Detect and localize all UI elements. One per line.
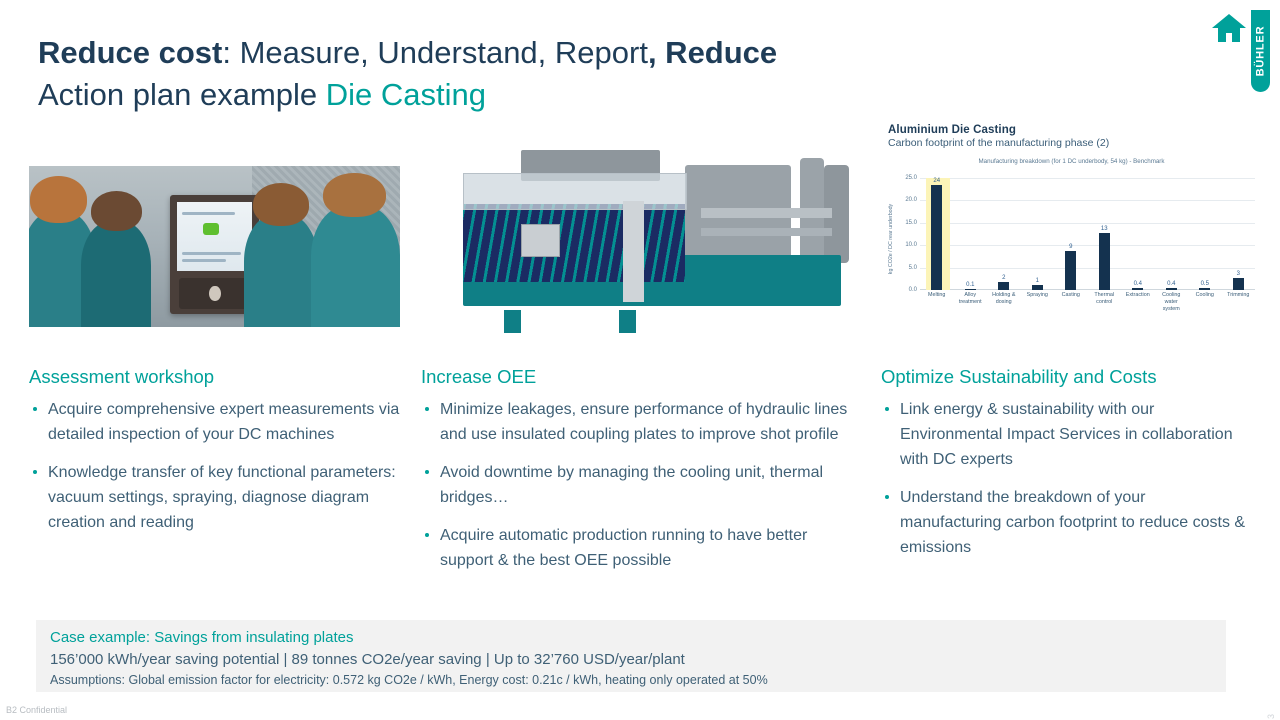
buhler-wordmark-text: BÜHLER bbox=[1254, 26, 1266, 77]
list-item: Minimize leakages, ensure performance of… bbox=[421, 397, 861, 447]
confidentiality-label: B2 Confidential bbox=[6, 705, 67, 715]
chart-x-tick: Alloy treatment bbox=[954, 292, 988, 313]
chart-data-label: 3 bbox=[1237, 271, 1240, 277]
column-bullets: Link energy & sustainability with our En… bbox=[881, 397, 1251, 560]
chart-y-tick: 10.0 bbox=[905, 242, 917, 248]
list-item: Knowledge transfer of key functional par… bbox=[29, 460, 414, 535]
column-bullets: Acquire comprehensive expert measurement… bbox=[29, 397, 414, 535]
chart-bar-group: 24 bbox=[920, 178, 954, 290]
chart-bar bbox=[1166, 288, 1177, 290]
list-item: Understand the breakdown of your manufac… bbox=[881, 485, 1251, 560]
machine-pillar bbox=[623, 201, 644, 302]
chart-y-tick: 25.0 bbox=[905, 175, 917, 181]
chart-bar bbox=[965, 289, 976, 291]
buhler-wordmark: BÜHLER bbox=[1250, 10, 1270, 92]
chart-bar-group: 0.4 bbox=[1155, 178, 1189, 290]
machine-panel bbox=[463, 204, 684, 282]
title-line-2: Action plan example Die Casting bbox=[38, 76, 918, 114]
column-bullets: Minimize leakages, ensure performance of… bbox=[421, 397, 861, 573]
title-bold-reduce-cost: Reduce cost bbox=[38, 35, 222, 70]
column-assessment-workshop: Assessment workshop Acquire comprehensiv… bbox=[29, 366, 414, 548]
chart-bar-group: 2 bbox=[987, 178, 1021, 290]
chart-x-tick: Cooling water system bbox=[1155, 292, 1189, 313]
chart-data-label: 0.5 bbox=[1201, 281, 1209, 287]
chart-bar-group: 13 bbox=[1088, 178, 1122, 290]
chart-bar bbox=[1032, 285, 1043, 290]
machine-safety-glass bbox=[463, 173, 686, 210]
chart-bar-group: 3 bbox=[1222, 178, 1256, 290]
column-heading: Increase OEE bbox=[421, 366, 861, 388]
case-example-box: Case example: Savings from insulating pl… bbox=[36, 620, 1226, 692]
chart-y-tick-labels: 0.05.010.015.020.025.0 bbox=[895, 178, 917, 290]
list-item: Link energy & sustainability with our En… bbox=[881, 397, 1251, 472]
list-item: Acquire comprehensive expert measurement… bbox=[29, 397, 414, 447]
chart-bars: 240.1219130.40.40.53 bbox=[920, 178, 1255, 290]
chart-panel-subheading: Carbon footprint of the manufacturing ph… bbox=[888, 137, 1259, 149]
machine-hmi-panel bbox=[521, 224, 560, 257]
title-subtitle-accent: Die Casting bbox=[326, 77, 486, 112]
chart-data-label: 0.4 bbox=[1134, 281, 1142, 287]
hmi-green-block bbox=[203, 223, 219, 235]
chart-x-tick: Melting bbox=[920, 292, 954, 313]
person-4 bbox=[311, 205, 400, 327]
chart-bar-group: 1 bbox=[1021, 178, 1055, 290]
slide-number: 3 bbox=[1266, 714, 1276, 719]
chart-data-label: 2 bbox=[1002, 275, 1005, 281]
person-2 bbox=[81, 221, 151, 327]
machine-tie-bar-2 bbox=[701, 228, 832, 236]
chart-bar bbox=[1065, 251, 1076, 290]
column-optimize-sustainability: Optimize Sustainability and Costs Link e… bbox=[881, 366, 1251, 573]
list-item: Avoid downtime by managing the cooling u… bbox=[421, 460, 861, 510]
case-example-heading: Case example: Savings from insulating pl… bbox=[50, 628, 1226, 648]
chart-bar bbox=[1233, 278, 1244, 290]
slide: BÜHLER Reduce cost: Measure, Understand,… bbox=[0, 0, 1280, 720]
page-title: Reduce cost: Measure, Understand, Report… bbox=[38, 34, 918, 114]
hmi-screen bbox=[177, 202, 252, 271]
title-subtitle-plain: Action plan example bbox=[38, 77, 326, 112]
chart-data-label: 24 bbox=[933, 178, 940, 184]
buhler-logo: BÜHLER bbox=[1206, 8, 1272, 94]
photo-die-casting-machine bbox=[447, 142, 857, 337]
chart-data-label: 1 bbox=[1036, 278, 1039, 284]
list-item: Acquire automatic production running to … bbox=[421, 523, 861, 573]
chart-bar-group: 9 bbox=[1054, 178, 1088, 290]
chart-data-label: 9 bbox=[1069, 244, 1072, 250]
chart-bar bbox=[998, 282, 1009, 290]
chart-data-label: 13 bbox=[1101, 226, 1108, 232]
photo-technicians bbox=[29, 166, 400, 327]
chart-bar bbox=[1199, 288, 1210, 290]
chart-bar bbox=[1099, 233, 1110, 290]
case-example-savings: 156’000 kWh/year saving potential | 89 t… bbox=[50, 649, 1226, 670]
case-example-assumptions: Assumptions: Global emission factor for … bbox=[50, 671, 1226, 689]
chart-x-tick: Extraction bbox=[1121, 292, 1155, 313]
column-heading: Optimize Sustainability and Costs bbox=[881, 366, 1251, 388]
chart-data-label: 0.1 bbox=[966, 282, 974, 288]
chart-panel-heading: Aluminium Die Casting bbox=[888, 124, 1259, 136]
title-mid: : Measure, Understand, Report bbox=[222, 35, 648, 70]
machine-tie-bar-1 bbox=[701, 208, 832, 218]
chart-x-tick: Casting bbox=[1054, 292, 1088, 313]
chart-x-tick: Holding & dosing bbox=[987, 292, 1021, 313]
chart-x-tick: Thermal control bbox=[1088, 292, 1122, 313]
chart-x-tick: Cooling bbox=[1188, 292, 1222, 313]
title-line-1: Reduce cost: Measure, Understand, Report… bbox=[38, 34, 918, 72]
chart-title: Manufacturing breakdown (for 1 DC underb… bbox=[884, 158, 1259, 165]
chart-bar-group: 0.4 bbox=[1121, 178, 1155, 290]
bar-chart: kg CO2e / DC rear underbody 0.05.010.015… bbox=[884, 168, 1259, 318]
chart-y-tick: 5.0 bbox=[909, 265, 917, 271]
chart-panel: Aluminium Die Casting Carbon footprint o… bbox=[884, 120, 1259, 342]
chart-x-tick-labels: MeltingAlloy treatmentHolding & dosingSp… bbox=[920, 292, 1255, 313]
chart-y-tick: 15.0 bbox=[905, 220, 917, 226]
chart-y-tick: 0.0 bbox=[909, 287, 917, 293]
title-bold-reduce: , Reduce bbox=[648, 35, 777, 70]
person-3 bbox=[244, 214, 318, 327]
chart-x-tick: Trimming bbox=[1222, 292, 1256, 313]
chart-x-tick: Spraying bbox=[1021, 292, 1055, 313]
home-icon bbox=[1210, 12, 1248, 44]
column-increase-oee: Increase OEE Minimize leakages, ensure p… bbox=[421, 366, 861, 586]
chart-bar bbox=[931, 185, 942, 290]
chart-bar-group: 0.5 bbox=[1188, 178, 1222, 290]
hmi-knob bbox=[209, 286, 221, 301]
chart-y-tick: 20.0 bbox=[905, 197, 917, 203]
column-heading: Assessment workshop bbox=[29, 366, 414, 388]
chart-bar bbox=[1132, 288, 1143, 290]
chart-data-label: 0.4 bbox=[1167, 281, 1175, 287]
chart-bar-group: 0.1 bbox=[954, 178, 988, 290]
